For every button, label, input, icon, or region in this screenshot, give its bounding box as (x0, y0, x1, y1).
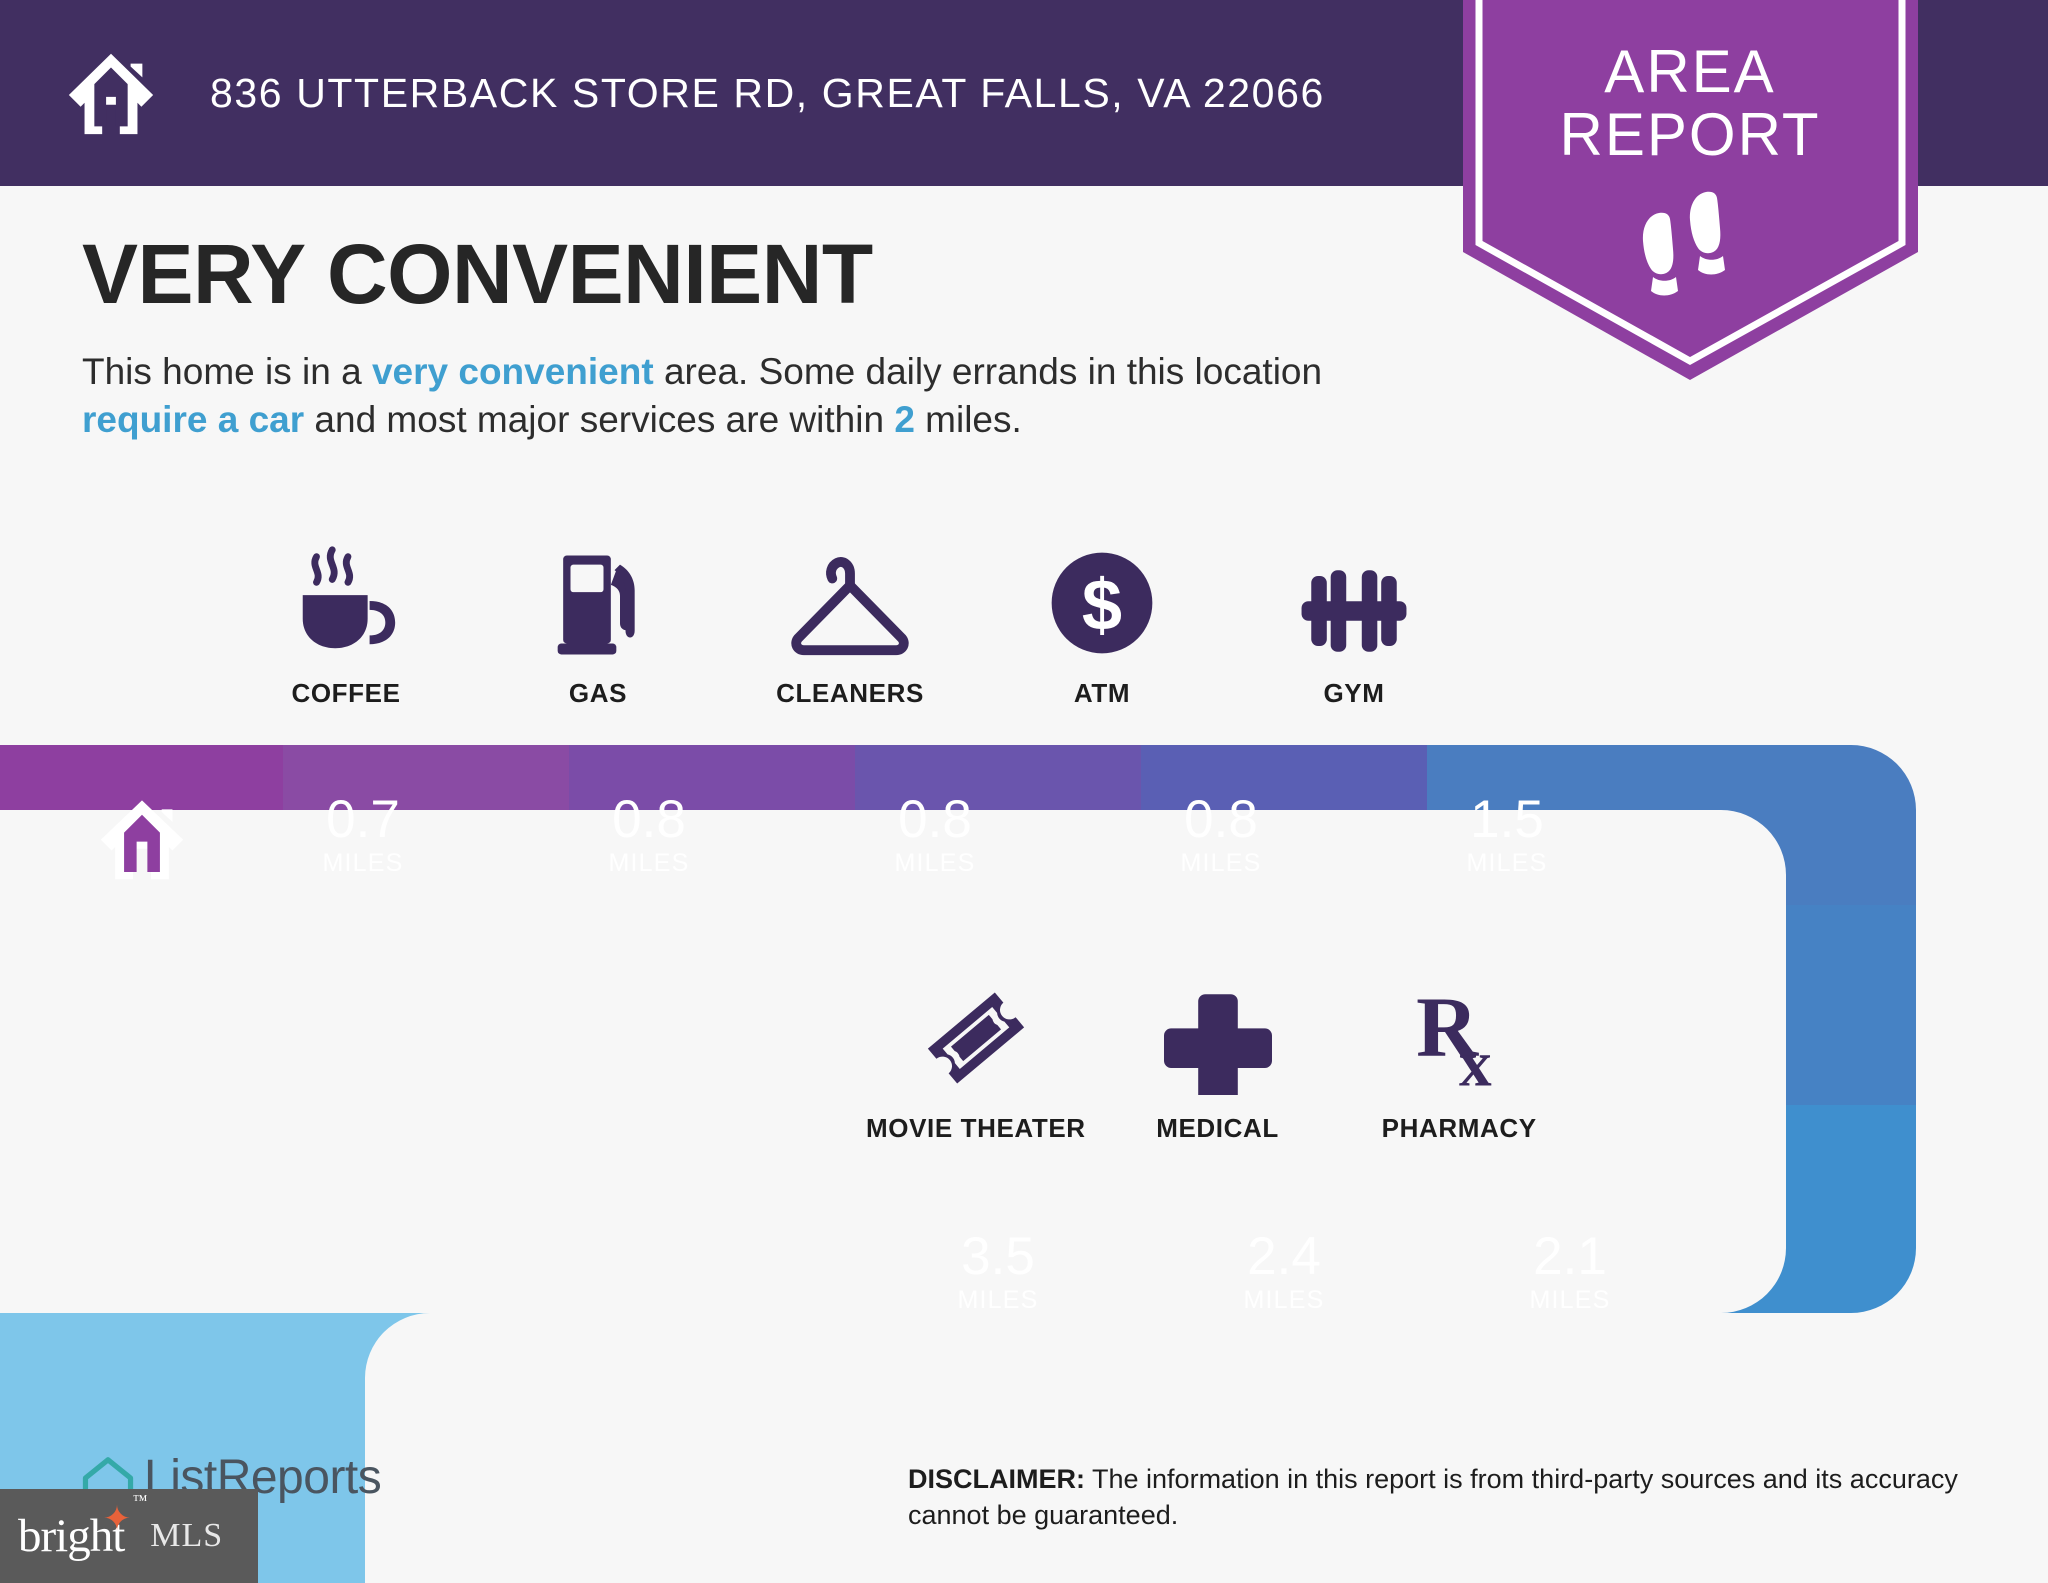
intro-text: miles. (915, 399, 1022, 440)
svg-text:$: $ (1082, 566, 1122, 646)
service-label: ATM (1074, 678, 1130, 709)
badge-line-1: AREA (1604, 38, 1775, 105)
intro-sentence: This home is in a very convenient area. … (82, 348, 1437, 444)
service-label: COFFEE (291, 678, 400, 709)
spark-icon: ✦ (103, 1503, 131, 1537)
dollar-circle-icon: $ (1045, 540, 1159, 660)
page-title: VERY CONVENIENT (82, 232, 1482, 316)
house-icon (62, 44, 160, 142)
service-label: CLEANERS (776, 678, 924, 709)
ribbon-seg-gym (1427, 745, 1713, 885)
service-label: GYM (1323, 678, 1384, 709)
hanger-icon (786, 540, 914, 660)
ribbon-seg-atm (1141, 745, 1427, 885)
service-cleaners: CLEANERS (724, 540, 976, 709)
services-row-1: COFFEE GAS CLEANERS (220, 540, 1480, 709)
service-label: GAS (569, 678, 627, 709)
intro-text: This home is in a (82, 351, 372, 392)
service-gym: GYM (1228, 540, 1480, 709)
bright-wordmark: bright ✦ ™ (18, 1509, 124, 1563)
intro-text: and most major services are within (304, 399, 894, 440)
service-coffee: COFFEE (220, 540, 472, 709)
ribbon-seg-blank-2 (569, 1245, 855, 1583)
ribbon-seg-cleaners (855, 745, 1141, 885)
home-marker-icon (96, 795, 188, 881)
ribbon-seg-gas (569, 745, 855, 885)
disclaimer: DISCLAIMER: The information in this repo… (908, 1462, 1988, 1534)
ribbon-seg-coffee (283, 745, 569, 885)
coffee-cup-icon (287, 540, 405, 660)
ribbon-seg-blank-1 (283, 1245, 569, 1583)
bright-mls-watermark: bright ✦ ™ MLS (0, 1489, 258, 1583)
property-address: 836 UTTERBACK STORE RD, GREAT FALLS, VA … (210, 70, 1325, 117)
trademark-symbol: ™ (133, 1493, 147, 1510)
gas-pump-icon (543, 540, 653, 660)
service-gas: GAS (472, 540, 724, 709)
intro-highlight: very convenient (372, 351, 654, 392)
dumbbell-icon (1286, 540, 1422, 660)
disclaimer-label: DISCLAIMER: (908, 1464, 1085, 1494)
intro-highlight: require a car (82, 399, 304, 440)
mls-text: MLS (150, 1517, 223, 1555)
service-atm: $ ATM (976, 540, 1228, 709)
intro-block: VERY CONVENIENT This home is in a very c… (82, 232, 1482, 444)
intro-highlight: 2 (894, 399, 915, 440)
badge-line-2: REPORT (1560, 101, 1821, 168)
intro-text: area. Some daily errands in this locatio… (654, 351, 1322, 392)
area-report-badge: AREA REPORT (1463, 0, 1918, 380)
